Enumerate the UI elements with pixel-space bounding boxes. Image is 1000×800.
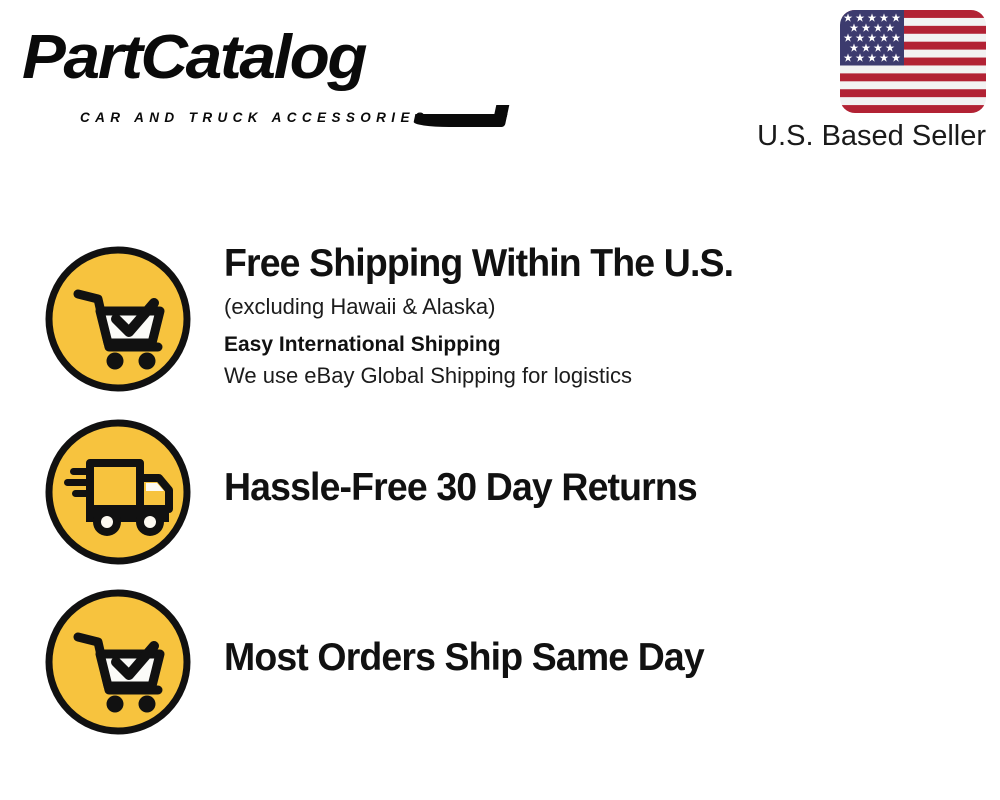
- shopping-cart-check-icon: [42, 243, 194, 395]
- feature-title: Most Orders Ship Same Day: [224, 634, 915, 682]
- feature-sub-heading: Easy International Shipping: [224, 329, 944, 360]
- shopping-cart-check-icon: [42, 586, 194, 738]
- delivery-truck-graphic: [42, 416, 194, 568]
- feature-text-block: Free Shipping Within The U.S. (excluding…: [224, 240, 944, 391]
- delivery-truck-icon: [42, 416, 194, 568]
- cart-check-graphic: [42, 586, 194, 738]
- feature-title: Hassle-Free 30 Day Returns: [224, 464, 915, 512]
- feature-row: Hassle-Free 30 Day Returns: [0, 416, 1000, 572]
- cart-check-graphic: [42, 243, 194, 395]
- feature-sub-detail: We use eBay Global Shipping for logistic…: [224, 360, 944, 391]
- feature-row: Free Shipping Within The U.S. (excluding…: [0, 243, 1000, 403]
- feature-row: Most Orders Ship Same Day: [0, 586, 1000, 742]
- seller-banner-page: PartCatalog CAR AND TRUCK ACCESSORIES: [0, 0, 1000, 800]
- feature-text-block: Hassle-Free 30 Day Returns: [224, 464, 944, 512]
- feature-text-block: Most Orders Ship Same Day: [224, 634, 944, 682]
- feature-note: (excluding Hawaii & Alaska): [224, 290, 944, 323]
- feature-title: Free Shipping Within The U.S.: [224, 240, 915, 288]
- feature-list: Free Shipping Within The U.S. (excluding…: [0, 0, 1000, 800]
